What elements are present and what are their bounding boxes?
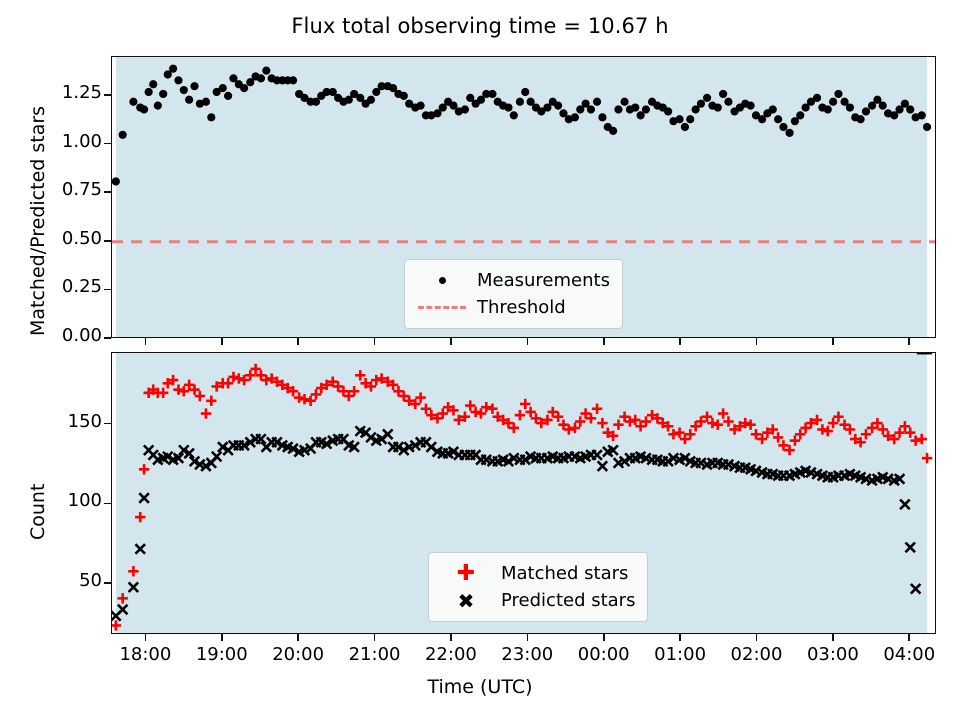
x-axis-label: Time (UTC) [0, 676, 960, 698]
x-tickmark-top-panel [603, 338, 605, 345]
x-tickmark-top-panel [221, 338, 223, 345]
legend-entry-threshold: Threshold [415, 294, 610, 321]
x-tickmark-top-panel [756, 338, 758, 345]
legend-entry-measurements: Measurements [415, 267, 610, 294]
x-tickmark [756, 634, 758, 641]
y-tick-label: 1.00 [38, 133, 102, 151]
x-tickmark [908, 634, 910, 641]
x-tick-label: 19:00 [182, 644, 262, 665]
x-tick-label: 21:00 [335, 644, 415, 665]
x-tickmark-top-panel [297, 338, 299, 345]
y-tickmark [104, 289, 111, 291]
x-tickmark-top-panel [450, 338, 452, 345]
legend-label-matched-stars: Matched stars [501, 563, 628, 584]
y-tick-label: 0.50 [38, 230, 102, 248]
figure-title: Flux total observing time = 10.67 h [0, 14, 960, 38]
y-tick-label: 1.25 [38, 84, 102, 102]
x-tickmark-top-panel [908, 338, 910, 345]
y-tick-label: 100 [38, 492, 102, 510]
figure: Flux total observing time = 10.67 h Matc… [0, 0, 960, 720]
x-tickmark-top-panel [832, 338, 834, 345]
x-tickmark [679, 634, 681, 641]
x-tickmark [450, 634, 452, 641]
y-tickmark [104, 582, 111, 584]
x-tickmark [145, 634, 147, 641]
y-tickmark [104, 94, 111, 96]
x-tickmark [603, 634, 605, 641]
x-tick-label: 18:00 [105, 644, 185, 665]
y-tickmark [104, 191, 111, 193]
y-tickmark [104, 503, 111, 505]
bottom-panel-legend[interactable]: ✚ Matched stars ✖ Predicted stars [428, 552, 648, 622]
y-tick-label: 150 [38, 413, 102, 431]
x-tick-label: 20:00 [258, 644, 338, 665]
x-tickmark [832, 634, 834, 641]
matched-stars-plus-icon: ✚ [439, 563, 493, 585]
y-tickmark [104, 337, 111, 339]
x-tickmark-top-panel [374, 338, 376, 345]
y-tickmark [104, 143, 111, 145]
legend-entry-predicted-stars: ✖ Predicted stars [439, 587, 635, 614]
measurements-dot-icon [415, 277, 469, 284]
x-tick-label: 00:00 [564, 644, 644, 665]
y-tick-label: 0.00 [38, 327, 102, 345]
y-tickmark [104, 423, 111, 425]
x-tickmark [221, 634, 223, 641]
y-tickmark [104, 240, 111, 242]
x-tickmark-top-panel [145, 338, 147, 345]
predicted-stars-cross-icon: ✖ [439, 591, 493, 611]
x-tickmark [297, 634, 299, 641]
y-tick-label: 0.25 [38, 278, 102, 296]
legend-label-threshold: Threshold [477, 297, 566, 318]
x-tickmark-top-panel [679, 338, 681, 345]
top-panel-legend[interactable]: Measurements Threshold [404, 259, 623, 329]
x-tick-label: 23:00 [487, 644, 567, 665]
y-tick-label: 0.75 [38, 181, 102, 199]
x-tickmark-top-panel [527, 338, 529, 345]
x-tick-label: 03:00 [793, 644, 873, 665]
y-tick-label: 50 [38, 572, 102, 590]
legend-entry-matched-stars: ✚ Matched stars [439, 560, 635, 587]
x-tickmark [527, 634, 529, 641]
x-tick-label: 02:00 [716, 644, 796, 665]
threshold-dashed-line-icon [415, 306, 469, 309]
x-tick-label: 04:00 [869, 644, 949, 665]
x-tick-label: 01:00 [640, 644, 720, 665]
legend-label-predicted-stars: Predicted stars [501, 590, 635, 611]
x-tickmark [374, 634, 376, 641]
x-tick-label: 22:00 [411, 644, 491, 665]
legend-label-measurements: Measurements [477, 270, 610, 291]
